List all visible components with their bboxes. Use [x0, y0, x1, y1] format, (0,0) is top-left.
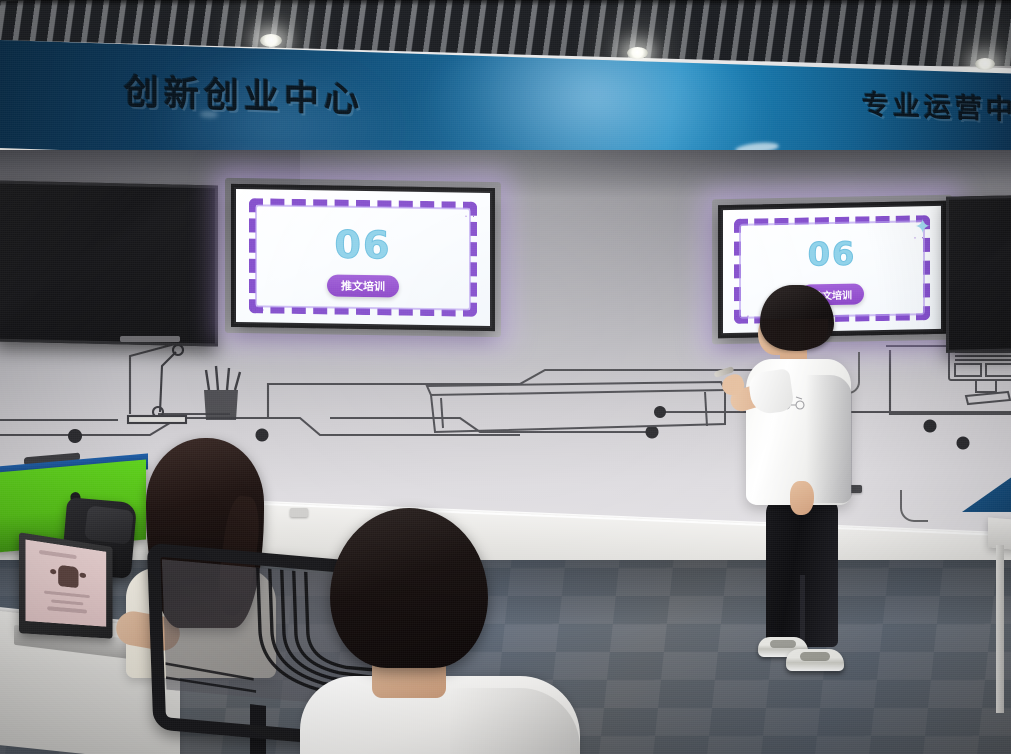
slide-left: 06 推文培训 · · ·· ·	[236, 189, 490, 326]
presenter-pants-seam	[800, 575, 805, 647]
photo-scene: 创新创业中心 专业运营中心	[0, 0, 1011, 754]
wall-tv-right[interactable]	[946, 195, 1011, 353]
wall-sign-left: 创新创业中心	[124, 64, 364, 123]
presenter-hand-lower	[790, 481, 814, 515]
downlight-icon	[975, 58, 995, 70]
presenter-person	[736, 285, 866, 680]
slide-decor-left: ·· ·	[250, 304, 266, 314]
slide-decor-right: · ·	[465, 211, 477, 221]
laptop-ui-graphic	[58, 565, 79, 588]
downlight-icon	[627, 47, 648, 59]
laptop[interactable]	[14, 540, 124, 656]
laptop-ui-line	[47, 607, 87, 614]
slide-number: 06	[723, 233, 941, 275]
presenter-shirt-shadow	[806, 375, 852, 503]
laptop-lineart-icon	[425, 362, 735, 434]
laptop-ui-line	[51, 599, 83, 605]
tv-screen-right	[949, 198, 1011, 349]
presenter-shoe-right	[786, 649, 844, 671]
laptop-ui-line	[44, 590, 89, 598]
student-man	[300, 508, 600, 754]
laptop-screen	[25, 540, 106, 627]
slide-decor-right: · ·	[914, 232, 926, 242]
projector-screen-left[interactable]: 06 推文培训 · · ·· ·	[231, 184, 495, 331]
floor-cable	[900, 490, 928, 522]
slide-number: 06	[236, 221, 490, 269]
downlight-icon	[260, 34, 282, 47]
wall-tv-left[interactable]	[0, 180, 218, 346]
wall-sign-right: 专业运营中心	[862, 83, 1011, 128]
laptop-lid	[19, 532, 112, 638]
student-man-hair	[330, 508, 488, 668]
ceiling-shadow	[0, 0, 1011, 6]
desk-right-leg	[996, 545, 1004, 713]
tv-screen-left	[0, 184, 215, 344]
laptop-ui-header	[39, 550, 77, 559]
slide-title-badge: 推文培训	[327, 274, 399, 297]
tv-mount-bracket	[120, 336, 180, 342]
